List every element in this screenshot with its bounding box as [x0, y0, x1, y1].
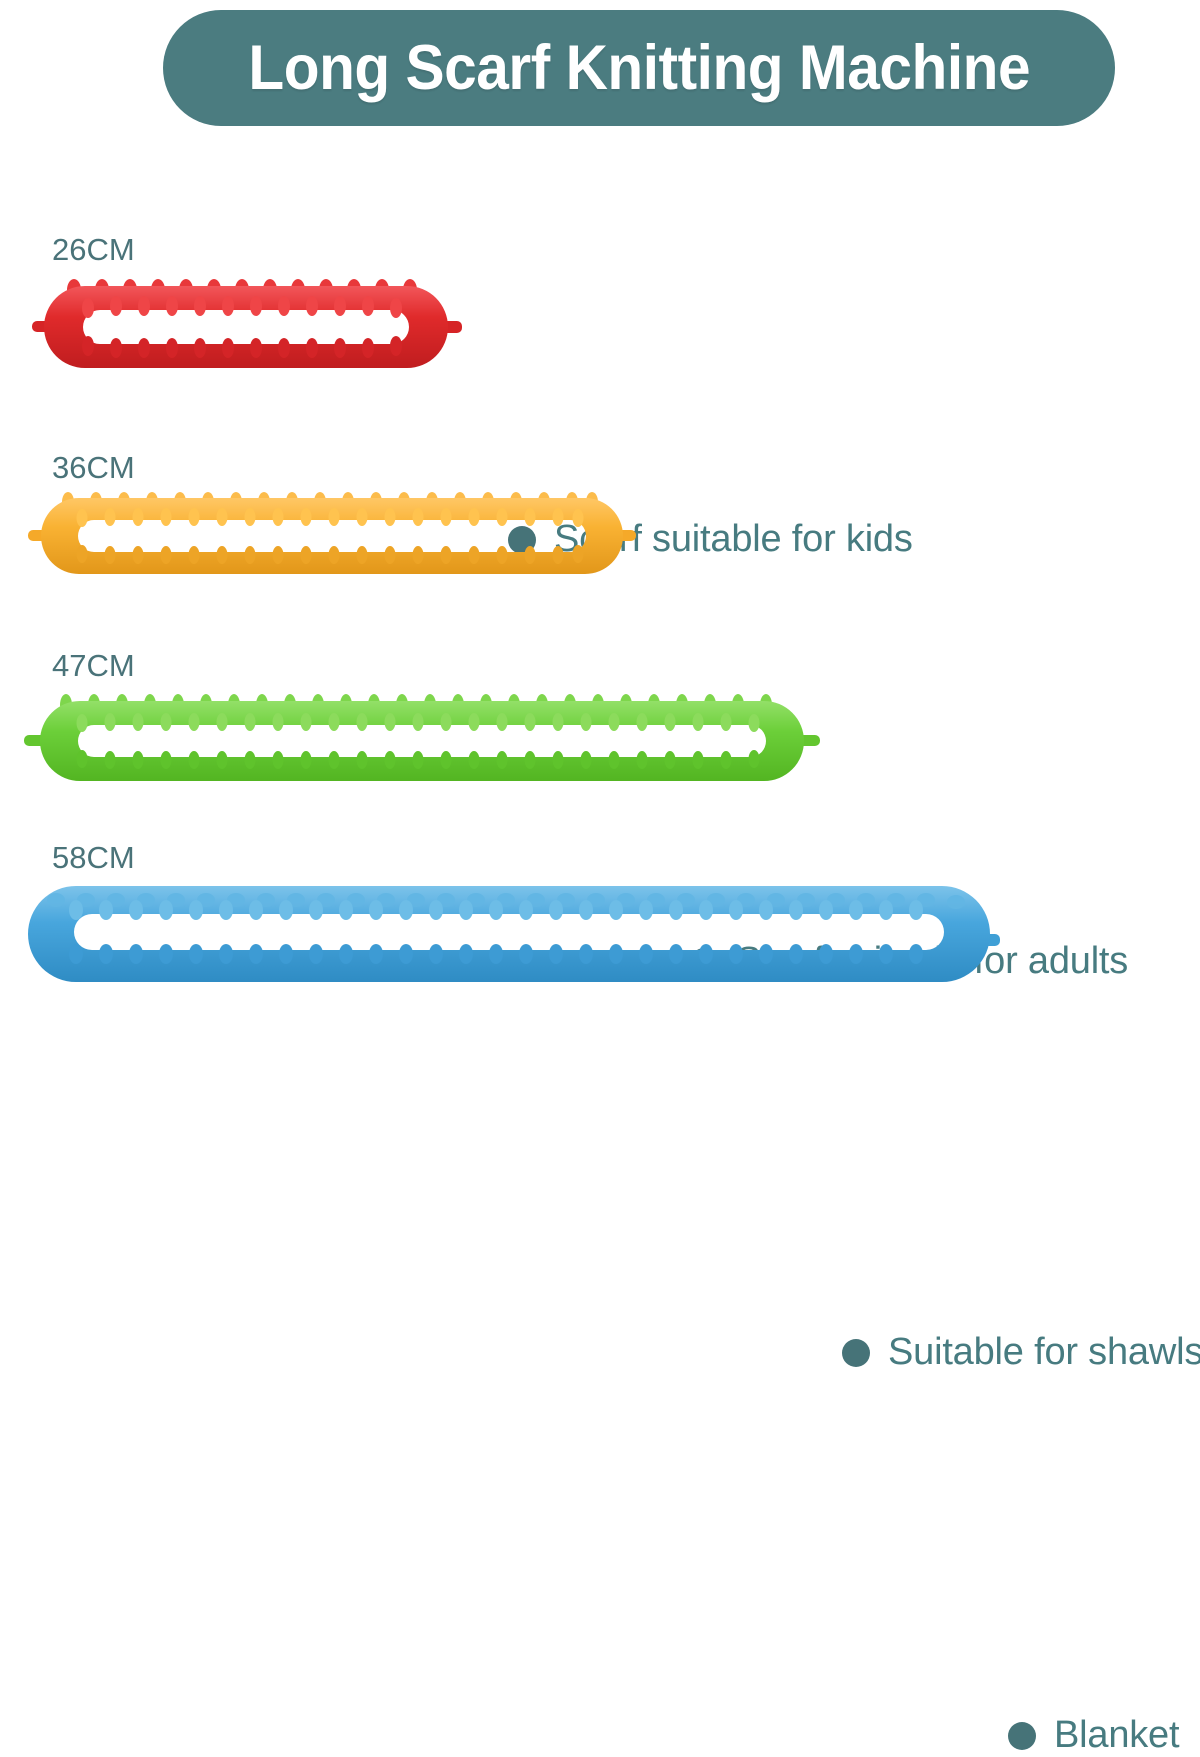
loom-illustration-47cm — [22, 683, 822, 801]
product-row-47cm: 47CM — [0, 635, 1200, 805]
loom-svg-47cm — [22, 683, 822, 801]
size-label-36cm: 36CM — [52, 450, 135, 486]
size-label-47cm: 47CM — [52, 648, 135, 684]
product-row-58cm: 58CM — [0, 828, 1200, 975]
feature-58cm: Blanket — [1008, 1714, 1179, 1757]
feature-text-58cm: Blanket — [1054, 1714, 1179, 1757]
product-row-26cm: 26CM — [0, 218, 1200, 388]
bullet-dot-icon — [842, 1339, 870, 1367]
feature-text-47cm: Suitable for shawls — [888, 1331, 1200, 1374]
feature-47cm: Suitable for shawls — [842, 1331, 1200, 1374]
page-title: Long Scarf Knitting Machine — [248, 32, 1030, 104]
product-row-36cm: 36CM — [0, 440, 1200, 600]
loom-svg-58cm — [14, 876, 1004, 1006]
loom-illustration-26cm — [26, 268, 466, 386]
size-label-58cm: 58CM — [52, 840, 135, 876]
size-label-26cm: 26CM — [52, 232, 135, 268]
bullet-dot-icon — [1008, 1722, 1036, 1750]
loom-illustration-58cm — [14, 876, 1004, 1006]
title-banner: Long Scarf Knitting Machine — [163, 10, 1115, 126]
loom-svg-36cm — [26, 482, 638, 592]
loom-svg-26cm — [26, 268, 466, 386]
loom-illustration-36cm — [26, 482, 638, 592]
